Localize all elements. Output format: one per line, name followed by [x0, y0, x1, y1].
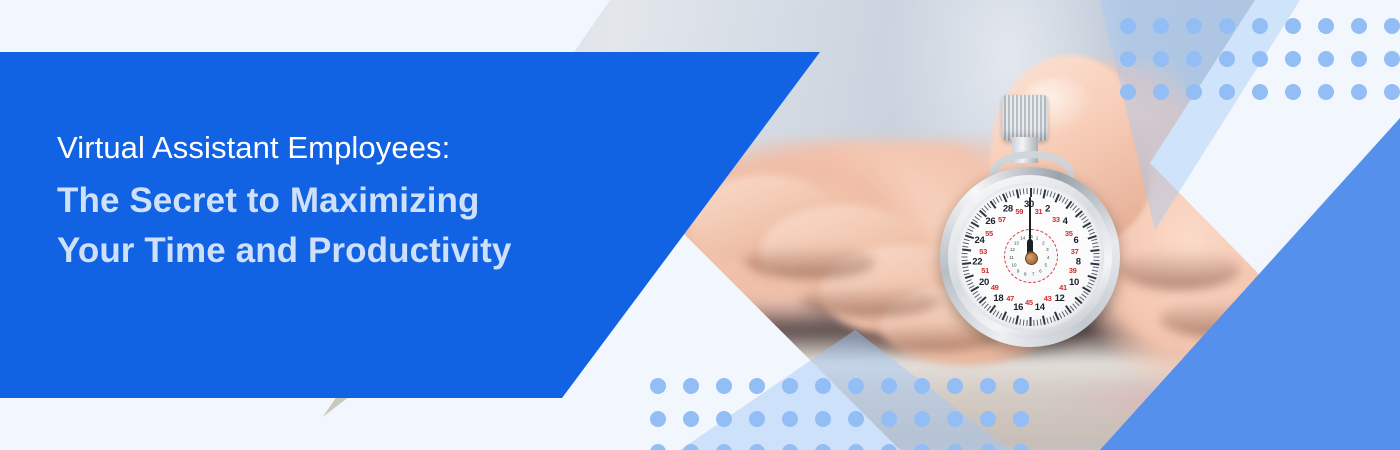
grid-dot [782, 411, 798, 427]
dot-grid-top [1120, 18, 1400, 118]
subdial-number: 8 [1024, 271, 1027, 276]
grid-dot [815, 444, 831, 450]
promo-banner: 2468101214161820222426283031333537394143… [0, 0, 1400, 450]
grid-dot [815, 378, 831, 394]
subdial-number: 3 [1046, 247, 1049, 252]
subdial-number: 5 [1044, 262, 1047, 267]
grid-dot [716, 411, 732, 427]
stopwatch-center-pivot [1025, 252, 1038, 265]
grid-dot [683, 444, 699, 450]
dial-number-red: 41 [1059, 283, 1067, 292]
stopwatch: 2468101214161820222426283031333537394143… [940, 95, 1120, 355]
dial-tick [964, 239, 970, 242]
dial-number-red: 31 [1035, 207, 1043, 216]
dial-number-black: 10 [1069, 277, 1079, 288]
dial-tick [967, 228, 973, 231]
dial-number-red: 37 [1071, 247, 1079, 256]
dial-number-red: 39 [1069, 266, 1077, 275]
dial-tick [1012, 318, 1015, 324]
dial-tick [1005, 192, 1008, 198]
dial-number-red: 45 [1025, 298, 1033, 307]
dial-number-black: 18 [993, 293, 1003, 304]
headline-line-3: Your Time and Productivity [57, 228, 657, 274]
grid-dot [1219, 51, 1235, 67]
dot-grid-bottom [650, 378, 1030, 450]
headline-line-2: The Secret to Maximizing [57, 178, 657, 224]
grid-dot [1013, 378, 1029, 394]
grid-dot [1153, 18, 1169, 34]
dial-tick [1092, 242, 1098, 244]
subdial-number: 11 [1009, 255, 1014, 260]
dial-tick [1091, 239, 1097, 242]
dial-tick [1019, 189, 1021, 195]
subdial-number: 4 [1047, 255, 1050, 260]
grid-dot [1285, 51, 1301, 67]
dial-tick [1009, 191, 1012, 197]
dial-tick [1088, 282, 1094, 285]
grid-dot [1186, 84, 1202, 100]
grid-dot [782, 444, 798, 450]
headline-line-1: Virtual Assistant Employees: [57, 128, 657, 168]
dial-number-black: 4 [1063, 216, 1068, 227]
dial-number-black: 24 [975, 235, 985, 246]
grid-dot [1384, 18, 1400, 34]
grid-dot [914, 378, 930, 394]
dial-tick [1049, 317, 1052, 323]
dial-tick [1030, 188, 1032, 197]
dial-number-red: 47 [1006, 294, 1014, 303]
dial-number-black: 16 [1013, 302, 1023, 313]
dial-number-red: 57 [998, 215, 1006, 224]
grid-dot [947, 378, 963, 394]
grid-dot [947, 444, 963, 450]
grid-dot [1384, 84, 1400, 100]
grid-dot [1186, 18, 1202, 34]
grid-dot [1318, 84, 1334, 100]
grid-dot [1013, 444, 1029, 450]
subdial-number: 1 [1036, 236, 1039, 241]
dial-number-red: 51 [981, 266, 989, 275]
grid-dot [848, 444, 864, 450]
dial-tick [1012, 190, 1015, 196]
dial-number-red: 35 [1065, 229, 1073, 238]
grid-dot [1351, 18, 1367, 34]
subdial-number: 14 [1020, 236, 1025, 241]
dial-tick [1053, 316, 1056, 322]
grid-dot [881, 378, 897, 394]
grid-dot [1252, 51, 1268, 67]
grid-dot [1252, 84, 1268, 100]
subdial-number: 2 [1042, 240, 1045, 245]
grid-dot [848, 378, 864, 394]
dial-tick [1026, 188, 1027, 194]
dial-number-red: 43 [1044, 294, 1052, 303]
grid-dot [980, 378, 996, 394]
grid-dot [749, 444, 765, 450]
dial-tick [1033, 320, 1034, 326]
grid-dot [815, 411, 831, 427]
grid-dot [1219, 84, 1235, 100]
grid-dot [782, 378, 798, 394]
hand-crease-2 [800, 285, 940, 317]
grid-dot [1153, 84, 1169, 100]
dial-tick [1037, 320, 1039, 326]
dial-tick [1090, 249, 1099, 251]
subdial-number: 10 [1012, 262, 1017, 267]
grid-dot [1120, 84, 1136, 100]
dial-tick [1089, 279, 1095, 282]
dial-tick [1009, 317, 1012, 323]
grid-dot [716, 378, 732, 394]
grid-dot [749, 378, 765, 394]
grid-dot [1120, 18, 1136, 34]
dial-tick [963, 270, 969, 272]
dial-number-red: 59 [1015, 207, 1023, 216]
dial-tick [962, 260, 968, 261]
dial-tick [1093, 266, 1099, 268]
dial-tick [963, 242, 969, 244]
dial-tick [1023, 320, 1025, 326]
subdial-number: 12 [1010, 247, 1015, 252]
grid-dot [1318, 18, 1334, 34]
dial-number-red: 33 [1052, 215, 1060, 224]
dial-number-black: 26 [985, 216, 995, 227]
stopwatch-dial: 2468101214161820222426283031333537394143… [956, 183, 1104, 331]
subdial-number: 9 [1017, 268, 1020, 273]
grid-dot [749, 411, 765, 427]
dial-tick [1091, 273, 1097, 276]
stopwatch-crown [1002, 95, 1048, 141]
grid-dot [1153, 51, 1169, 67]
dial-number-black: 12 [1055, 293, 1065, 304]
subdial-number: 6 [1039, 268, 1042, 273]
grid-dot [650, 411, 666, 427]
grid-dot [1318, 51, 1334, 67]
dial-number-red: 49 [991, 283, 999, 292]
dial-tick [1040, 319, 1042, 325]
grid-dot [914, 411, 930, 427]
grid-dot [980, 444, 996, 450]
grid-dot [947, 411, 963, 427]
dial-tick [1030, 317, 1032, 326]
hand-crease-1 [745, 245, 875, 279]
dial-tick [1090, 263, 1099, 265]
dial-tick [1033, 188, 1034, 194]
dial-number-black: 6 [1073, 235, 1078, 246]
dial-tick [1093, 253, 1099, 254]
grid-dot [716, 444, 732, 450]
grid-dot [1351, 51, 1367, 67]
dial-tick [1042, 316, 1045, 325]
grid-dot [1384, 51, 1400, 67]
grid-dot [1351, 84, 1367, 100]
dial-tick [964, 273, 970, 276]
dial-tick [1093, 260, 1099, 261]
dial-number-black: 14 [1035, 302, 1045, 313]
grid-dot [980, 411, 996, 427]
subdial-number: 7 [1032, 271, 1035, 276]
dial-tick [962, 246, 968, 248]
grid-dot [683, 378, 699, 394]
dial-tick [1019, 319, 1021, 325]
dial-tick [1026, 320, 1027, 326]
dial-tick [1023, 188, 1025, 194]
headline-block: Virtual Assistant Employees: The Secret … [57, 128, 657, 273]
dial-tick [1042, 189, 1045, 198]
front-hand-crease-1 [1120, 250, 1240, 290]
dial-tick [965, 275, 974, 279]
dial-tick [1094, 257, 1100, 258]
grid-dot [1219, 18, 1235, 34]
dial-number-black: 2 [1045, 203, 1050, 214]
dial-tick [1040, 189, 1042, 195]
dial-tick [1046, 190, 1049, 196]
grid-dot [1013, 411, 1029, 427]
dial-tick [1005, 316, 1008, 322]
dial-tick [962, 249, 971, 251]
dial-tick [962, 253, 968, 254]
grid-dot [1285, 18, 1301, 34]
grid-dot [1252, 18, 1268, 34]
dial-tick [1093, 246, 1099, 248]
dial-tick [966, 232, 972, 235]
grid-dot [1120, 51, 1136, 67]
grid-dot [881, 444, 897, 450]
dial-tick [962, 266, 968, 268]
grid-dot [1285, 84, 1301, 100]
dial-number-black: 20 [979, 277, 989, 288]
dial-number-red: 55 [985, 229, 993, 238]
dial-tick [962, 263, 971, 265]
grid-dot [1186, 51, 1202, 67]
grid-dot [881, 411, 897, 427]
dial-number-red: 53 [979, 247, 987, 256]
grid-dot [848, 411, 864, 427]
dial-tick [1046, 318, 1049, 324]
subdial-number: 13 [1014, 240, 1019, 245]
dial-number-black: 28 [1003, 203, 1013, 214]
dial-tick [999, 195, 1003, 201]
dial-tick [962, 257, 968, 258]
grid-dot [683, 411, 699, 427]
grid-dot [650, 444, 666, 450]
dial-tick [1037, 188, 1039, 194]
dial-tick [969, 225, 975, 229]
grid-dot [914, 444, 930, 450]
grid-dot [650, 378, 666, 394]
dial-tick [1092, 270, 1098, 272]
